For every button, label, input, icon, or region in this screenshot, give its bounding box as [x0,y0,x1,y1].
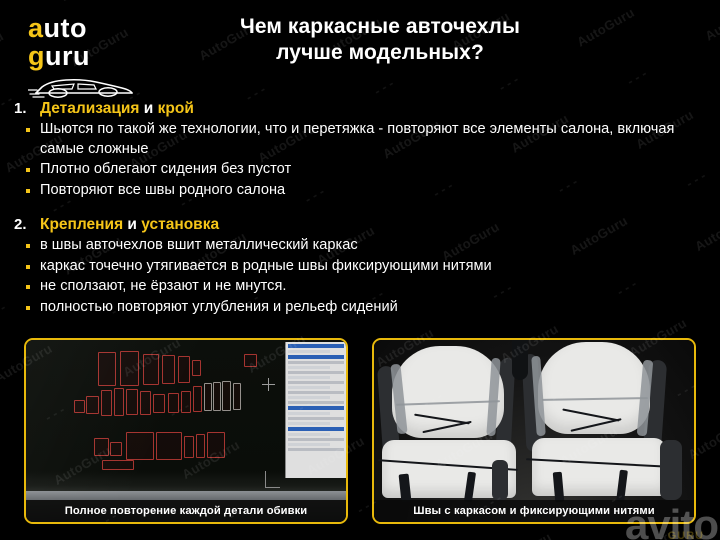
brand-rest-uto: uto [44,13,87,43]
bullet-square-icon [26,189,30,193]
section-1-keyword-2: крой [158,100,194,117]
brand-logo-line-guru: guru [28,42,143,70]
section-2-heading: 2. Крепления и установка [14,216,720,234]
section-1-bullets: Шьются по такой же технологии, что и пер… [0,120,720,200]
list-item: в швы авточехлов вшит металлический карк… [0,236,720,256]
bullet-square-icon [26,285,30,289]
section-2: 2. Крепления и установка в швы авточехло… [0,216,720,317]
section-2-bullets: в швы авточехлов вшит металлический карк… [0,236,720,317]
section-spacer [0,201,720,216]
avito-watermark-sub: GURU [668,530,704,540]
page-title-line-2: лучше модельных? [160,40,600,66]
bullet-square-icon [26,306,30,310]
list-item-text: Шьются по такой же технологии, что и пер… [40,121,674,157]
cad-pattern-photo: Полное повторение каждой детали обивки [24,338,348,524]
brand-rest-uru: uru [45,41,90,71]
cad-screen-glare [26,340,346,522]
bullet-square-icon [26,244,30,248]
content-list: 1. Детализация и крой Шьются по такой же… [0,100,720,318]
section-2-keyword-1: Крепления [40,216,123,233]
list-item: каркас точечно утягивается в родные швы … [0,257,720,277]
watermark-text: AutoGuru [491,529,554,540]
seat-covers-photo: Швы с каркасом и фиксирующими нитями [372,338,696,524]
section-2-keyword-2: установка [141,216,219,233]
brand-accent-g: g [28,41,45,71]
list-item: полностью повторяют углубления и рельеф … [0,298,720,318]
page-title-line-1: Чем каркасные авточехлы [160,14,600,40]
photo-caption-text: Швы с каркасом и фиксирующими нитями [413,505,655,517]
slide-header: auto guru Чем каркасные авточехлы лучше [0,0,720,96]
section-2-conjunction: и [123,216,141,233]
list-item-text: в швы авточехлов вшит металлический карк… [40,237,358,253]
list-item: Плотно облегают сидения без пустот [0,160,720,180]
bullet-square-icon [26,168,30,172]
list-item-text: полностью повторяют углубления и рельеф … [40,299,398,315]
list-item: Шьются по такой же технологии, что и пер… [0,120,720,159]
brand-accent-a: a [28,13,44,43]
brand-logo-line-auto: auto [28,14,143,42]
slide-root: auto guru Чем каркасные авточехлы лучше [0,0,720,540]
list-item-text: Повторяют все швы родного салона [40,182,285,198]
section-2-number: 2. [14,216,40,233]
list-item-text: каркас точечно утягивается в родные швы … [40,258,492,274]
section-1-conjunction: и [139,100,157,117]
cad-screen-image [26,340,346,522]
photo-caption-bar: Полное повторение каждой детали обивки [26,500,346,522]
section-1-keyword-1: Детализация [40,100,139,117]
brand-logo: auto guru [28,14,143,104]
section-1-title: Детализация и крой [40,100,194,118]
list-item-text: Плотно облегают сидения без пустот [40,161,291,177]
section-1-number: 1. [14,100,40,117]
section-1-heading: 1. Детализация и крой [14,100,720,118]
watermark-text: AutoGuru [363,535,426,540]
photo-caption-text: Полное повторение каждой детали обивки [65,505,308,517]
page-title: Чем каркасные авточехлы лучше модельных? [160,14,600,66]
seat-covers-image [374,340,694,522]
section-2-title: Крепления и установка [40,216,219,234]
list-item: не сползают, не ёрзают и не мнутся. [0,277,720,297]
section-1: 1. Детализация и крой Шьются по такой же… [0,100,720,200]
bullet-square-icon [26,128,30,132]
list-item: Повторяют все швы родного салона [0,181,720,201]
bullet-square-icon [26,265,30,269]
list-item-text: не сползают, не ёрзают и не мнутся. [40,278,286,294]
photo-row: Полное повторение каждой детали обивки [0,338,720,524]
